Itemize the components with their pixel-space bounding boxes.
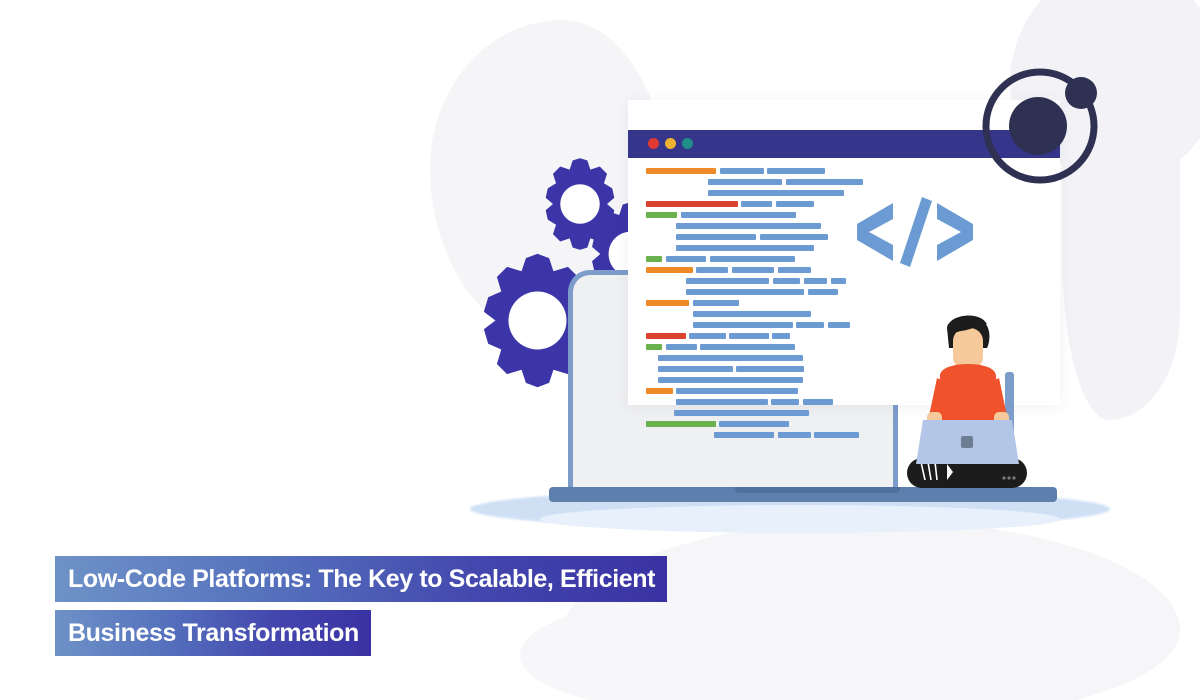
code-line-segment bbox=[666, 344, 697, 350]
code-line-segment bbox=[776, 201, 814, 207]
code-line-segment bbox=[828, 322, 850, 328]
code-line-segment bbox=[646, 421, 716, 427]
code-line-segment bbox=[814, 432, 859, 438]
code-line-segment bbox=[676, 399, 768, 405]
code-line-segment bbox=[831, 278, 846, 284]
laptop-base-notch bbox=[735, 487, 900, 493]
code-line-segment bbox=[646, 256, 662, 262]
code-line-segment bbox=[696, 267, 728, 273]
atom-icon bbox=[980, 58, 1110, 188]
code-line-segment bbox=[778, 267, 811, 273]
code-line-segment bbox=[658, 366, 733, 372]
code-line-segment bbox=[674, 410, 809, 416]
code-line-segment bbox=[658, 377, 803, 383]
person-illustration bbox=[895, 312, 1040, 497]
code-line-segment bbox=[646, 212, 677, 218]
code-line-segment bbox=[708, 190, 844, 196]
code-line-segment bbox=[676, 223, 821, 229]
code-line-segment bbox=[693, 300, 739, 306]
code-line-segment bbox=[676, 234, 756, 240]
code-line-segment bbox=[646, 201, 738, 207]
code-line-segment bbox=[760, 234, 828, 240]
code-line-segment bbox=[646, 267, 693, 273]
code-line-segment bbox=[693, 311, 811, 317]
code-line-segment bbox=[729, 333, 769, 339]
code-line-segment bbox=[646, 333, 686, 339]
code-line-segment bbox=[778, 432, 811, 438]
banner-canvas: Low-Code Platforms: The Key to Scalable,… bbox=[0, 0, 1200, 700]
code-line-segment bbox=[773, 278, 800, 284]
page-title: Low-Code Platforms: The Key to Scalable,… bbox=[55, 556, 667, 656]
code-line-segment bbox=[700, 344, 795, 350]
code-line-segment bbox=[693, 322, 793, 328]
code-line-segment bbox=[686, 289, 804, 295]
code-line-segment bbox=[786, 179, 863, 185]
code-line-segment bbox=[646, 300, 689, 306]
code-line-segment bbox=[666, 256, 706, 262]
title-line-2: Business Transformation bbox=[55, 610, 371, 656]
code-line-segment bbox=[736, 366, 804, 372]
code-line-segment bbox=[772, 333, 790, 339]
maximize-dot[interactable] bbox=[682, 138, 693, 149]
minimize-dot[interactable] bbox=[665, 138, 676, 149]
code-line-segment bbox=[803, 399, 833, 405]
code-line-segment bbox=[796, 322, 824, 328]
code-line-segment bbox=[710, 256, 795, 262]
code-brackets-icon bbox=[855, 195, 975, 270]
code-line-segment bbox=[658, 355, 803, 361]
code-line-segment bbox=[686, 278, 769, 284]
title-line-1: Low-Code Platforms: The Key to Scalable,… bbox=[55, 556, 667, 602]
code-line-segment bbox=[646, 344, 662, 350]
code-line-segment bbox=[804, 278, 827, 284]
code-line-segment bbox=[689, 333, 726, 339]
code-line-segment bbox=[646, 168, 716, 174]
code-line-segment bbox=[676, 388, 798, 394]
code-line-segment bbox=[771, 399, 799, 405]
code-line-segment bbox=[714, 432, 774, 438]
code-line-segment bbox=[732, 267, 774, 273]
code-line-segment bbox=[741, 201, 772, 207]
code-line-segment bbox=[720, 168, 764, 174]
code-line-segment bbox=[808, 289, 838, 295]
code-lines-group bbox=[636, 168, 886, 383]
code-line-segment bbox=[767, 168, 825, 174]
laptop-shadow-soft bbox=[540, 505, 1060, 533]
code-line-segment bbox=[719, 421, 789, 427]
code-line-segment bbox=[676, 245, 814, 251]
code-line-segment bbox=[708, 179, 782, 185]
code-line-segment bbox=[646, 388, 673, 394]
code-line-segment bbox=[681, 212, 796, 218]
close-dot[interactable] bbox=[648, 138, 659, 149]
